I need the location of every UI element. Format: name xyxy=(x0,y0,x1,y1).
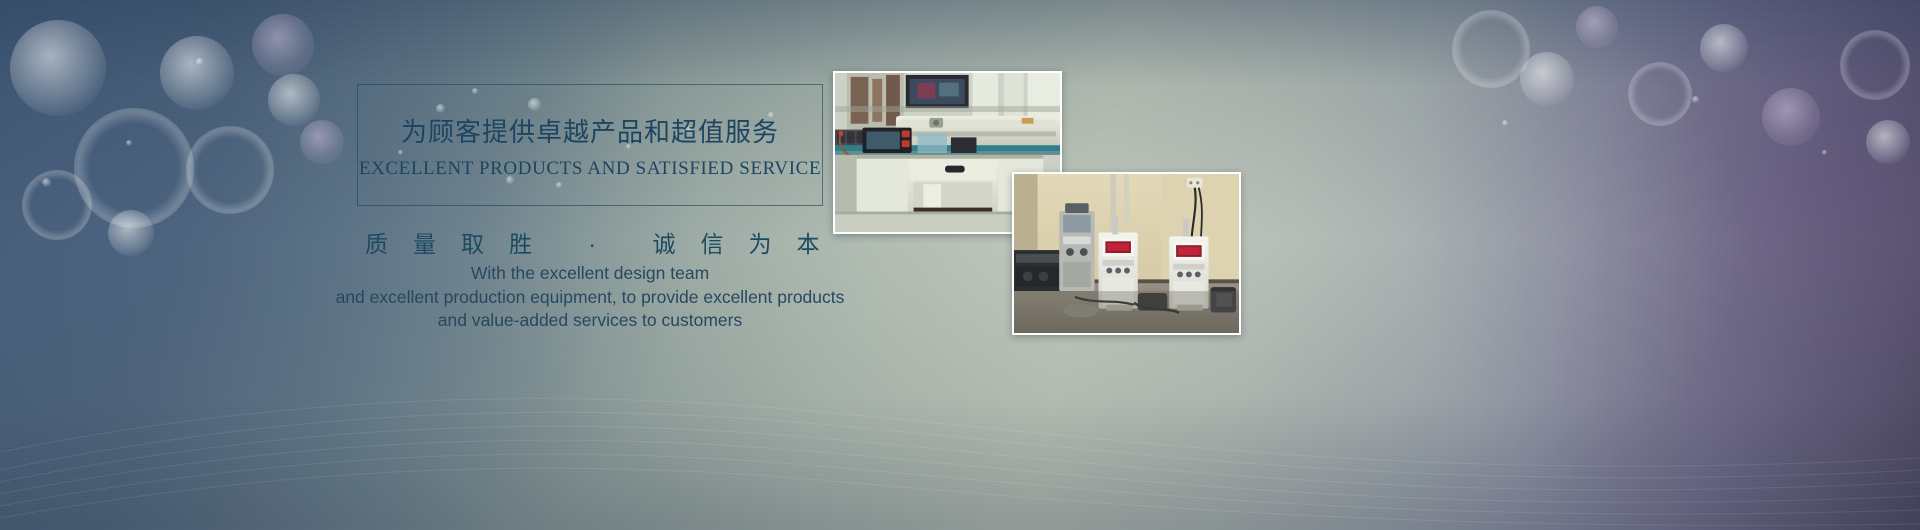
description-line-2: and excellent production equipment, to p… xyxy=(300,286,880,310)
headline-chinese: 为顾客提供卓越产品和超值服务 xyxy=(357,112,823,149)
headline-english: EXCELLENT PRODUCTS AND SATISFIED SERVICE xyxy=(357,158,823,180)
slogan-text: 质量取胜 · 诚信为本 xyxy=(340,225,840,259)
description-line-3: and value-added services to customers xyxy=(300,309,880,333)
description-line-1: With the excellent design team xyxy=(300,262,880,286)
banner-content: 为顾客提供卓越产品和超值服务 EXCELLENT PRODUCTS AND SA… xyxy=(0,0,1920,530)
photo-testing-equipment xyxy=(1012,172,1241,335)
promo-banner: 为顾客提供卓越产品和超值服务 EXCELLENT PRODUCTS AND SA… xyxy=(0,0,1920,530)
photo-testing-equipment-graphic xyxy=(1014,174,1239,333)
description-paragraph: With the excellent design team and excel… xyxy=(300,262,880,333)
